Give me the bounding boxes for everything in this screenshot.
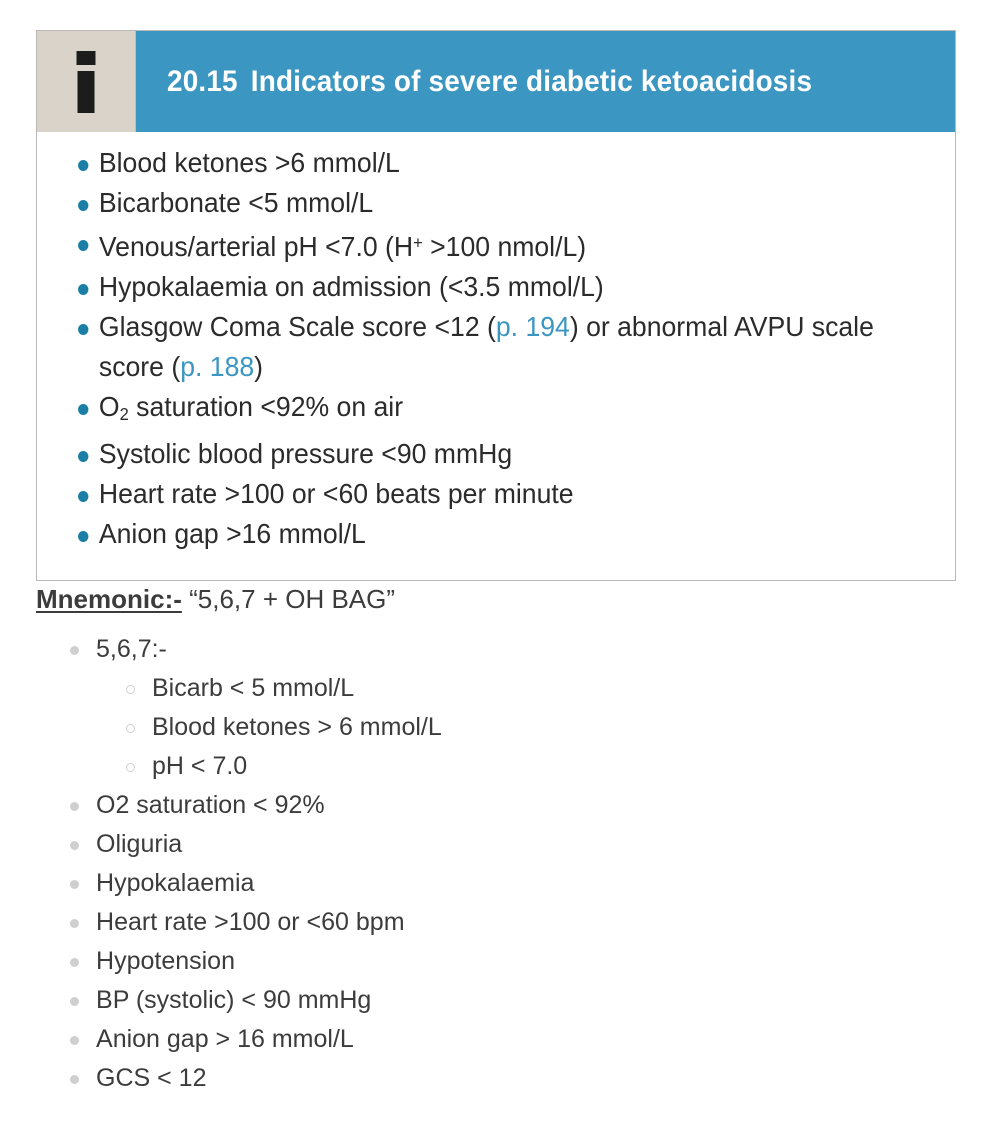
mnemonic-phrase: “5,6,7 + OH BAG” — [189, 584, 395, 614]
bullet-icon — [78, 160, 88, 171]
box-number: 20.15 — [167, 65, 238, 98]
indicator-anion-gap: Anion gap >16 mmol/L — [99, 518, 366, 549]
bullet-icon — [70, 997, 79, 1006]
mnemonic-sub-ph: pH < 7.0 — [152, 752, 247, 780]
list-item-hypotension: Hypotension — [36, 942, 956, 981]
bullet-icon — [70, 919, 79, 928]
list-item-oliguria: Oliguria — [36, 825, 956, 864]
mnemonic-oliguria-rest: liguria — [115, 830, 182, 858]
info-box-title-bar: 20.15Indicators of severe diabetic ketoa… — [136, 31, 955, 132]
info-i-icon-stem — [78, 71, 95, 113]
info-box: 20.15Indicators of severe diabetic ketoa… — [36, 30, 956, 581]
bullet-icon — [78, 284, 88, 295]
highlight-marker-h: H — [96, 942, 114, 981]
bullet-icon — [78, 451, 88, 462]
list-item: Blood ketones >6 mmol/L — [59, 143, 889, 183]
list-item-bicarb: Bicarb < 5 mmol/L — [96, 669, 956, 708]
list-item: O2 saturation <92% on air — [59, 387, 889, 434]
indicator-gcs-avpu: Glasgow Coma Scale score <12 (p. 194) or… — [99, 311, 874, 382]
list-item-blood-ketones: Blood ketones > 6 mmol/L — [96, 708, 956, 747]
page-reference-194[interactable]: p. 194 — [496, 311, 570, 342]
indicator-systolic-bp: Systolic blood pressure <90 mmHg — [99, 438, 512, 469]
list-item: Glasgow Coma Scale score <12 (p. 194) or… — [59, 307, 889, 387]
box-title: Indicators of severe diabetic ketoacidos… — [251, 65, 812, 98]
list-item: Bicarbonate <5 mmol/L — [59, 183, 889, 223]
bullet-icon — [78, 324, 88, 335]
bullet-icon — [78, 240, 88, 251]
bullet-icon — [70, 646, 79, 655]
list-item-heart-rate: Heart rate >100 or <60 bpm — [36, 903, 956, 942]
mnemonic-sublist: Bicarb < 5 mmol/L Blood ketones > 6 mmol… — [96, 669, 956, 786]
list-item-bp-systolic: BP (systolic) < 90 mmHg — [36, 981, 956, 1020]
bullet-icon — [70, 880, 79, 889]
info-box-body: Blood ketones >6 mmol/L Bicarbonate <5 m… — [37, 132, 955, 580]
page-reference-188[interactable]: p. 188 — [180, 351, 254, 382]
highlight-marker-h: H — [96, 864, 114, 903]
mnemonic-notes: Mnemonic:- “5,6,7 + OH BAG” 5,6,7:- Bica… — [36, 582, 956, 1098]
indicator-heart-rate: Heart rate >100 or <60 beats per minute — [99, 478, 574, 509]
highlight-marker-b: B — [96, 981, 113, 1020]
bullet-hollow-icon — [126, 763, 135, 772]
bullet-icon — [70, 841, 79, 850]
list-item: Heart rate >100 or <60 beats per minute — [59, 474, 889, 514]
mnemonic-hypokalaemia-rest: ypokalaemia — [114, 869, 254, 897]
info-i-icon-dot — [77, 51, 96, 65]
bullet-icon — [78, 404, 88, 415]
indicator-ph: Venous/arterial pH <7.0 (H+ >100 nmol/L) — [99, 231, 586, 262]
info-icon-cell — [37, 31, 136, 132]
mnemonic-list: 5,6,7:- Bicarb < 5 mmol/L Blood ketones … — [36, 630, 956, 1098]
list-item-hypokalaemia: Hypokalaemia — [36, 864, 956, 903]
indicator-blood-ketones: Blood ketones >6 mmol/L — [99, 147, 400, 178]
mnemonic-o2-saturation-rest: 2 saturation < 92% — [115, 791, 324, 819]
mnemonic-sub-bicarb: Bicarb < 5 mmol/L — [152, 674, 354, 702]
hydrogen-superscript: + — [413, 233, 423, 253]
info-box-header: 20.15Indicators of severe diabetic ketoa… — [37, 31, 955, 132]
bullet-icon — [78, 200, 88, 211]
bullet-hollow-icon — [126, 724, 135, 733]
indicator-o2-saturation: O2 saturation <92% on air — [99, 391, 403, 422]
mnemonic-anion-gap-rest: nion gap > 16 mmol/L — [113, 1025, 354, 1053]
list-item-gcs: GCS < 12 — [36, 1059, 956, 1098]
bullet-hollow-icon — [126, 685, 135, 694]
bullet-icon — [78, 491, 88, 502]
mnemonic-heading: Mnemonic:- “5,6,7 + OH BAG” — [36, 582, 956, 616]
indicator-hypokalaemia: Hypokalaemia on admission (<3.5 mmol/L) — [99, 271, 604, 302]
highlight-marker-a: A — [96, 1020, 113, 1059]
list-item: Hypokalaemia on admission (<3.5 mmol/L) — [59, 267, 889, 307]
indicator-list: Blood ketones >6 mmol/L Bicarbonate <5 m… — [59, 143, 933, 554]
bullet-icon — [70, 1036, 79, 1045]
bullet-icon — [78, 531, 88, 542]
list-item-five-six-seven: 5,6,7:- Bicarb < 5 mmol/L Blood ketones … — [36, 630, 956, 786]
indicator-bicarbonate: Bicarbonate <5 mmol/L — [99, 187, 373, 218]
mnemonic-gcs-rest: CS < 12 — [115, 1064, 206, 1092]
list-item: Systolic blood pressure <90 mmHg — [59, 434, 889, 474]
page-title: 20.15Indicators of severe diabetic ketoa… — [167, 65, 812, 99]
list-item: Venous/arterial pH <7.0 (H+ >100 nmol/L) — [59, 223, 889, 267]
mnemonic-group-label: 5,6,7:- — [96, 635, 167, 663]
mnemonic-hypotension-rest: ypotension — [114, 947, 235, 975]
bullet-icon — [70, 802, 79, 811]
highlight-marker-o: O — [96, 825, 115, 864]
bullet-icon — [70, 1075, 79, 1084]
mnemonic-sub-blood-ketones: Blood ketones > 6 mmol/L — [152, 713, 442, 741]
list-item-anion-gap: Anion gap > 16 mmol/L — [36, 1020, 956, 1059]
mnemonic-label: Mnemonic:- — [36, 584, 182, 614]
list-item-o2-saturation: O2 saturation < 92% — [36, 786, 956, 825]
list-item-ph: pH < 7.0 — [96, 747, 956, 786]
highlight-marker-o: O — [96, 786, 115, 825]
mnemonic-heart-rate-rest: eart rate >100 or <60 bpm — [114, 908, 404, 936]
mnemonic-bp-systolic-rest: P (systolic) < 90 mmHg — [113, 986, 372, 1014]
bullet-icon — [70, 958, 79, 967]
list-item: Anion gap >16 mmol/L — [59, 514, 889, 554]
info-i-icon — [77, 51, 96, 113]
highlight-marker-h: H — [96, 903, 114, 942]
highlight-marker-g: G — [96, 1059, 115, 1098]
